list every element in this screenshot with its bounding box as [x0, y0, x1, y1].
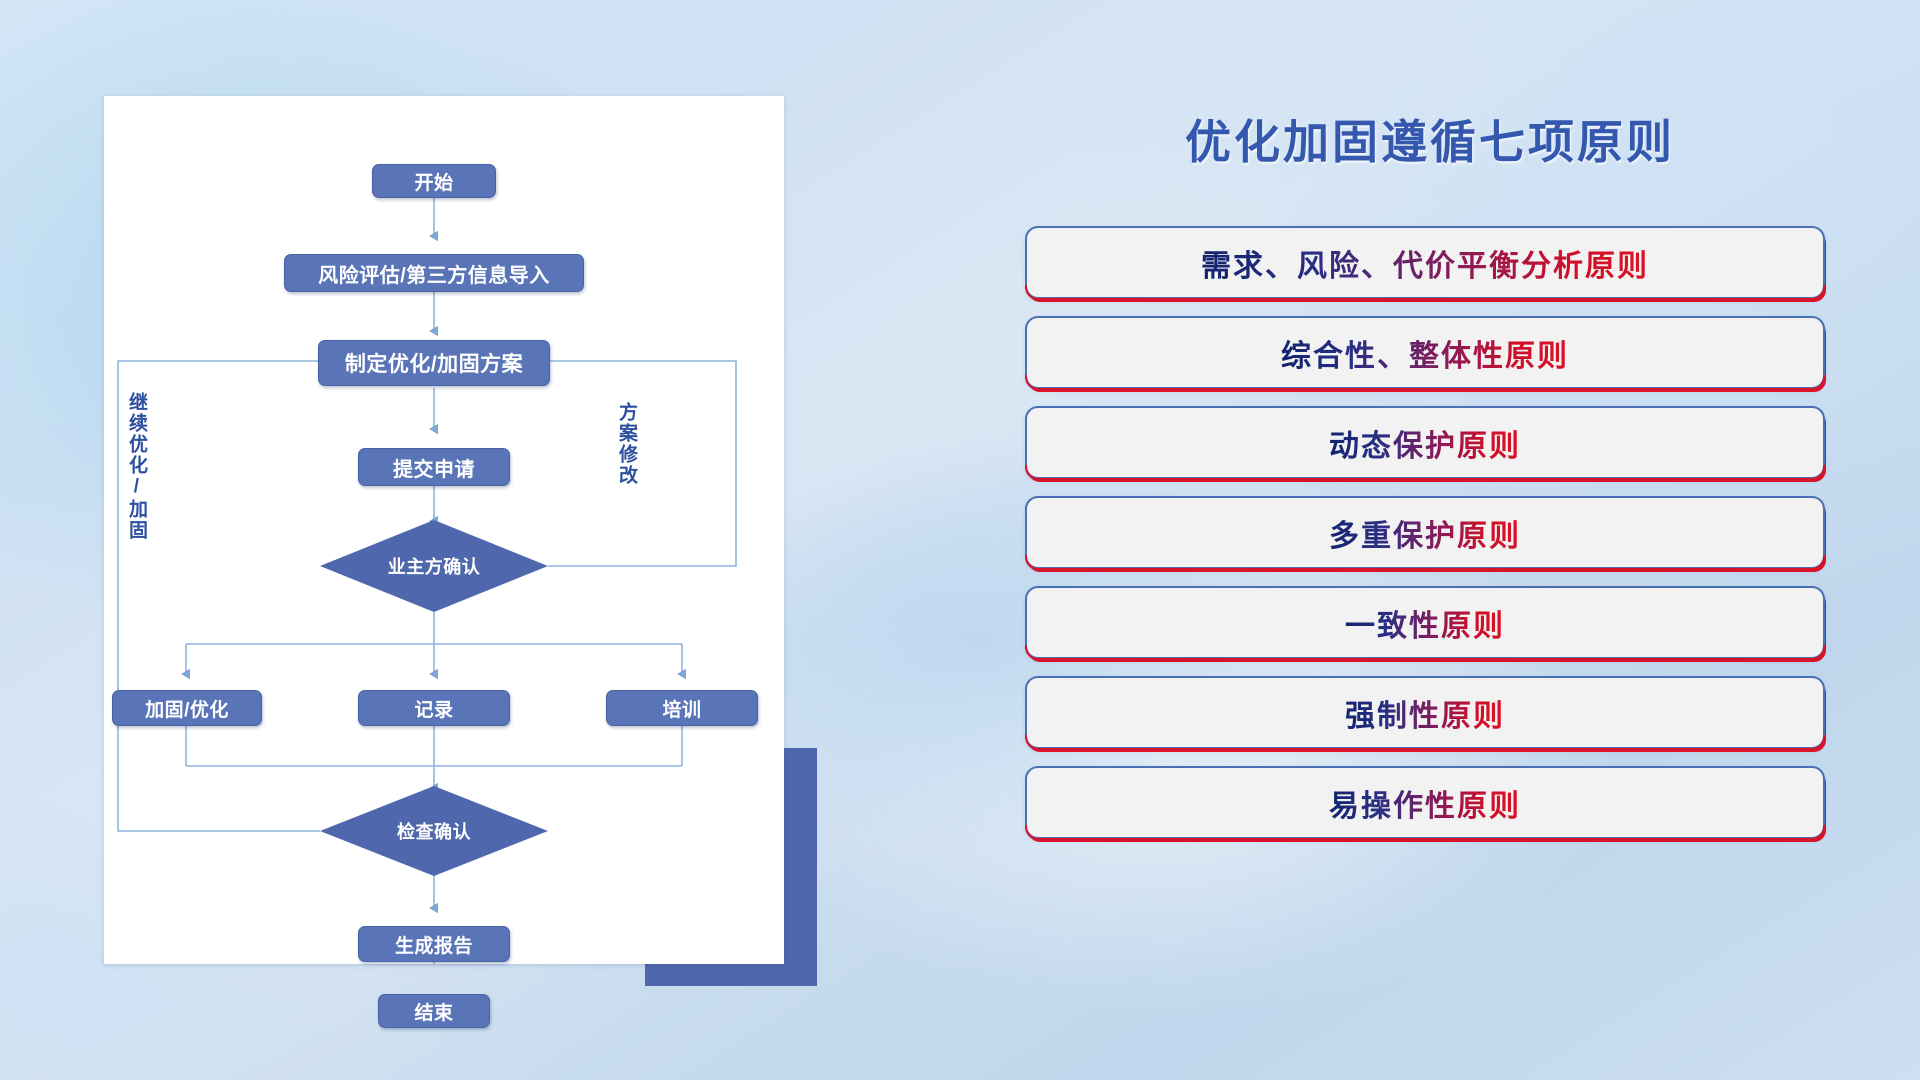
flow-node-submit[interactable]: 提交申请 — [358, 448, 510, 486]
principle-label: 综合性、整体性原则 — [1281, 331, 1569, 375]
flow-node-training[interactable]: 培训 — [606, 690, 758, 726]
principle-item[interactable]: 需求、风险、代价平衡分析原则 — [1025, 226, 1825, 299]
flow-label-plan-revision-text: 方案修改 — [616, 402, 637, 486]
flow-label-plan-revision: 方案修改 — [616, 402, 636, 486]
flow-node-end[interactable]: 结束 — [378, 994, 490, 1028]
principle-label: 多重保护原则 — [1329, 511, 1521, 555]
principle-label: 需求、风险、代价平衡分析原则 — [1201, 241, 1649, 285]
principles-title: 优化加固遵循七项原则 — [1020, 106, 1840, 172]
flow-node-report-label: 生成报告 — [395, 931, 473, 958]
flowchart-card: 开始 风险评估/第三方信息导入 制定优化/加固方案 提交申请 业主方确认 加固/… — [104, 96, 784, 964]
flow-decision-owner-confirm[interactable]: 业主方确认 — [320, 520, 548, 612]
principle-item[interactable]: 综合性、整体性原则 — [1025, 316, 1825, 389]
principles-list: 需求、风险、代价平衡分析原则 综合性、整体性原则 动态保护原则 多重保护原则 一… — [1025, 226, 1825, 856]
flow-node-record-label: 记录 — [414, 695, 453, 722]
principle-item[interactable]: 强制性原则 — [1025, 676, 1825, 749]
principle-label: 强制性原则 — [1345, 691, 1505, 735]
flow-node-reinforce[interactable]: 加固/优化 — [112, 690, 262, 726]
flow-node-submit-label: 提交申请 — [393, 453, 475, 482]
flow-label-continue-optimize: 继续优化/加固 — [126, 392, 146, 541]
flow-node-plan-label: 制定优化/加固方案 — [345, 348, 523, 378]
principle-label: 动态保护原则 — [1329, 421, 1521, 465]
flow-label-continue-optimize-text: 继续优化/加固 — [126, 392, 147, 541]
flow-node-report[interactable]: 生成报告 — [358, 926, 510, 962]
flow-decision-owner-confirm-label: 业主方确认 — [388, 553, 481, 579]
principle-item[interactable]: 动态保护原则 — [1025, 406, 1825, 479]
slide-canvas: 开始 风险评估/第三方信息导入 制定优化/加固方案 提交申请 业主方确认 加固/… — [0, 0, 1920, 1080]
flow-decision-check-confirm[interactable]: 检查确认 — [320, 786, 548, 876]
principle-item[interactable]: 多重保护原则 — [1025, 496, 1825, 569]
flow-node-reinforce-label: 加固/优化 — [145, 695, 229, 722]
flow-node-risk-assessment-label: 风险评估/第三方信息导入 — [318, 259, 550, 288]
flowchart: 开始 风险评估/第三方信息导入 制定优化/加固方案 提交申请 业主方确认 加固/… — [104, 96, 784, 964]
flow-node-end-label: 结束 — [414, 998, 453, 1025]
principles-pane: 优化加固遵循七项原则 需求、风险、代价平衡分析原则 综合性、整体性原则 动态保护… — [1020, 96, 1840, 996]
flow-node-start[interactable]: 开始 — [372, 164, 496, 198]
principle-item[interactable]: 易操作性原则 — [1025, 766, 1825, 839]
flow-node-plan[interactable]: 制定优化/加固方案 — [318, 340, 550, 386]
principle-label: 一致性原则 — [1345, 601, 1505, 645]
principle-label: 易操作性原则 — [1329, 781, 1521, 825]
flow-node-training-label: 培训 — [662, 695, 701, 722]
flow-node-start-label: 开始 — [414, 168, 453, 195]
flow-decision-check-confirm-label: 检查确认 — [397, 818, 471, 844]
flow-node-record[interactable]: 记录 — [358, 690, 510, 726]
principles-title-text: 优化加固遵循七项原则 — [1185, 116, 1675, 168]
principle-item[interactable]: 一致性原则 — [1025, 586, 1825, 659]
flow-node-risk-assessment[interactable]: 风险评估/第三方信息导入 — [284, 254, 584, 292]
